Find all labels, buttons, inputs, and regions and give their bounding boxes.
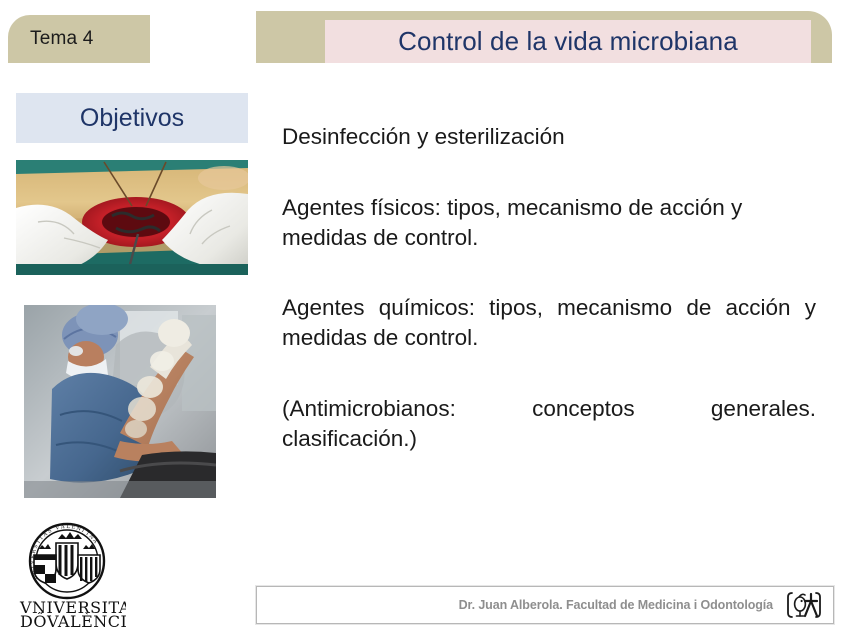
slide-canvas: Tema 4 Control de la vida microbiana Obj… (0, 0, 848, 636)
surgical-scrub-photo (24, 305, 216, 498)
surgery-photo (16, 160, 248, 275)
universitat-de-valencia-logo: V N I V E R S I T A S V A (8, 521, 126, 629)
slide-title: Control de la vida microbiana (398, 26, 738, 57)
section-heading-box: Objetivos (16, 93, 248, 143)
svg-text:A: A (59, 524, 65, 531)
topic-tab: Tema 4 (8, 15, 150, 63)
body-paragraph-3: Agentes químicos: tipos, mecanismo de ac… (282, 293, 816, 353)
footer-credit-box: Dr. Juan Alberola. Facultad de Medicina … (256, 586, 834, 624)
faculty-pictogram-logo (783, 590, 825, 620)
footer-credit-text: Dr. Juan Alberola. Facultad de Medicina … (459, 598, 773, 612)
body-text-block: Desinfección y esterilización Agentes fí… (282, 122, 816, 453)
paragraph-spacer (282, 152, 816, 193)
paragraph-spacer (282, 253, 816, 293)
body-paragraph-4: (Antimicrobianos: conceptos generales. c… (282, 394, 816, 454)
body-paragraph-2: Agentes físicos: tipos, mecanismo de acc… (282, 193, 816, 253)
title-inner-panel: Control de la vida microbiana (325, 20, 811, 63)
topic-tab-label: Tema 4 (30, 28, 94, 50)
paragraph-spacer (282, 353, 816, 394)
svg-text:L: L (66, 524, 70, 530)
uv-logo-line2: DŐVALÈNCIA (20, 611, 126, 629)
section-heading-label: Objetivos (80, 104, 184, 133)
title-band: Control de la vida microbiana (256, 11, 832, 63)
body-paragraph-1: Desinfección y esterilización (282, 122, 816, 152)
